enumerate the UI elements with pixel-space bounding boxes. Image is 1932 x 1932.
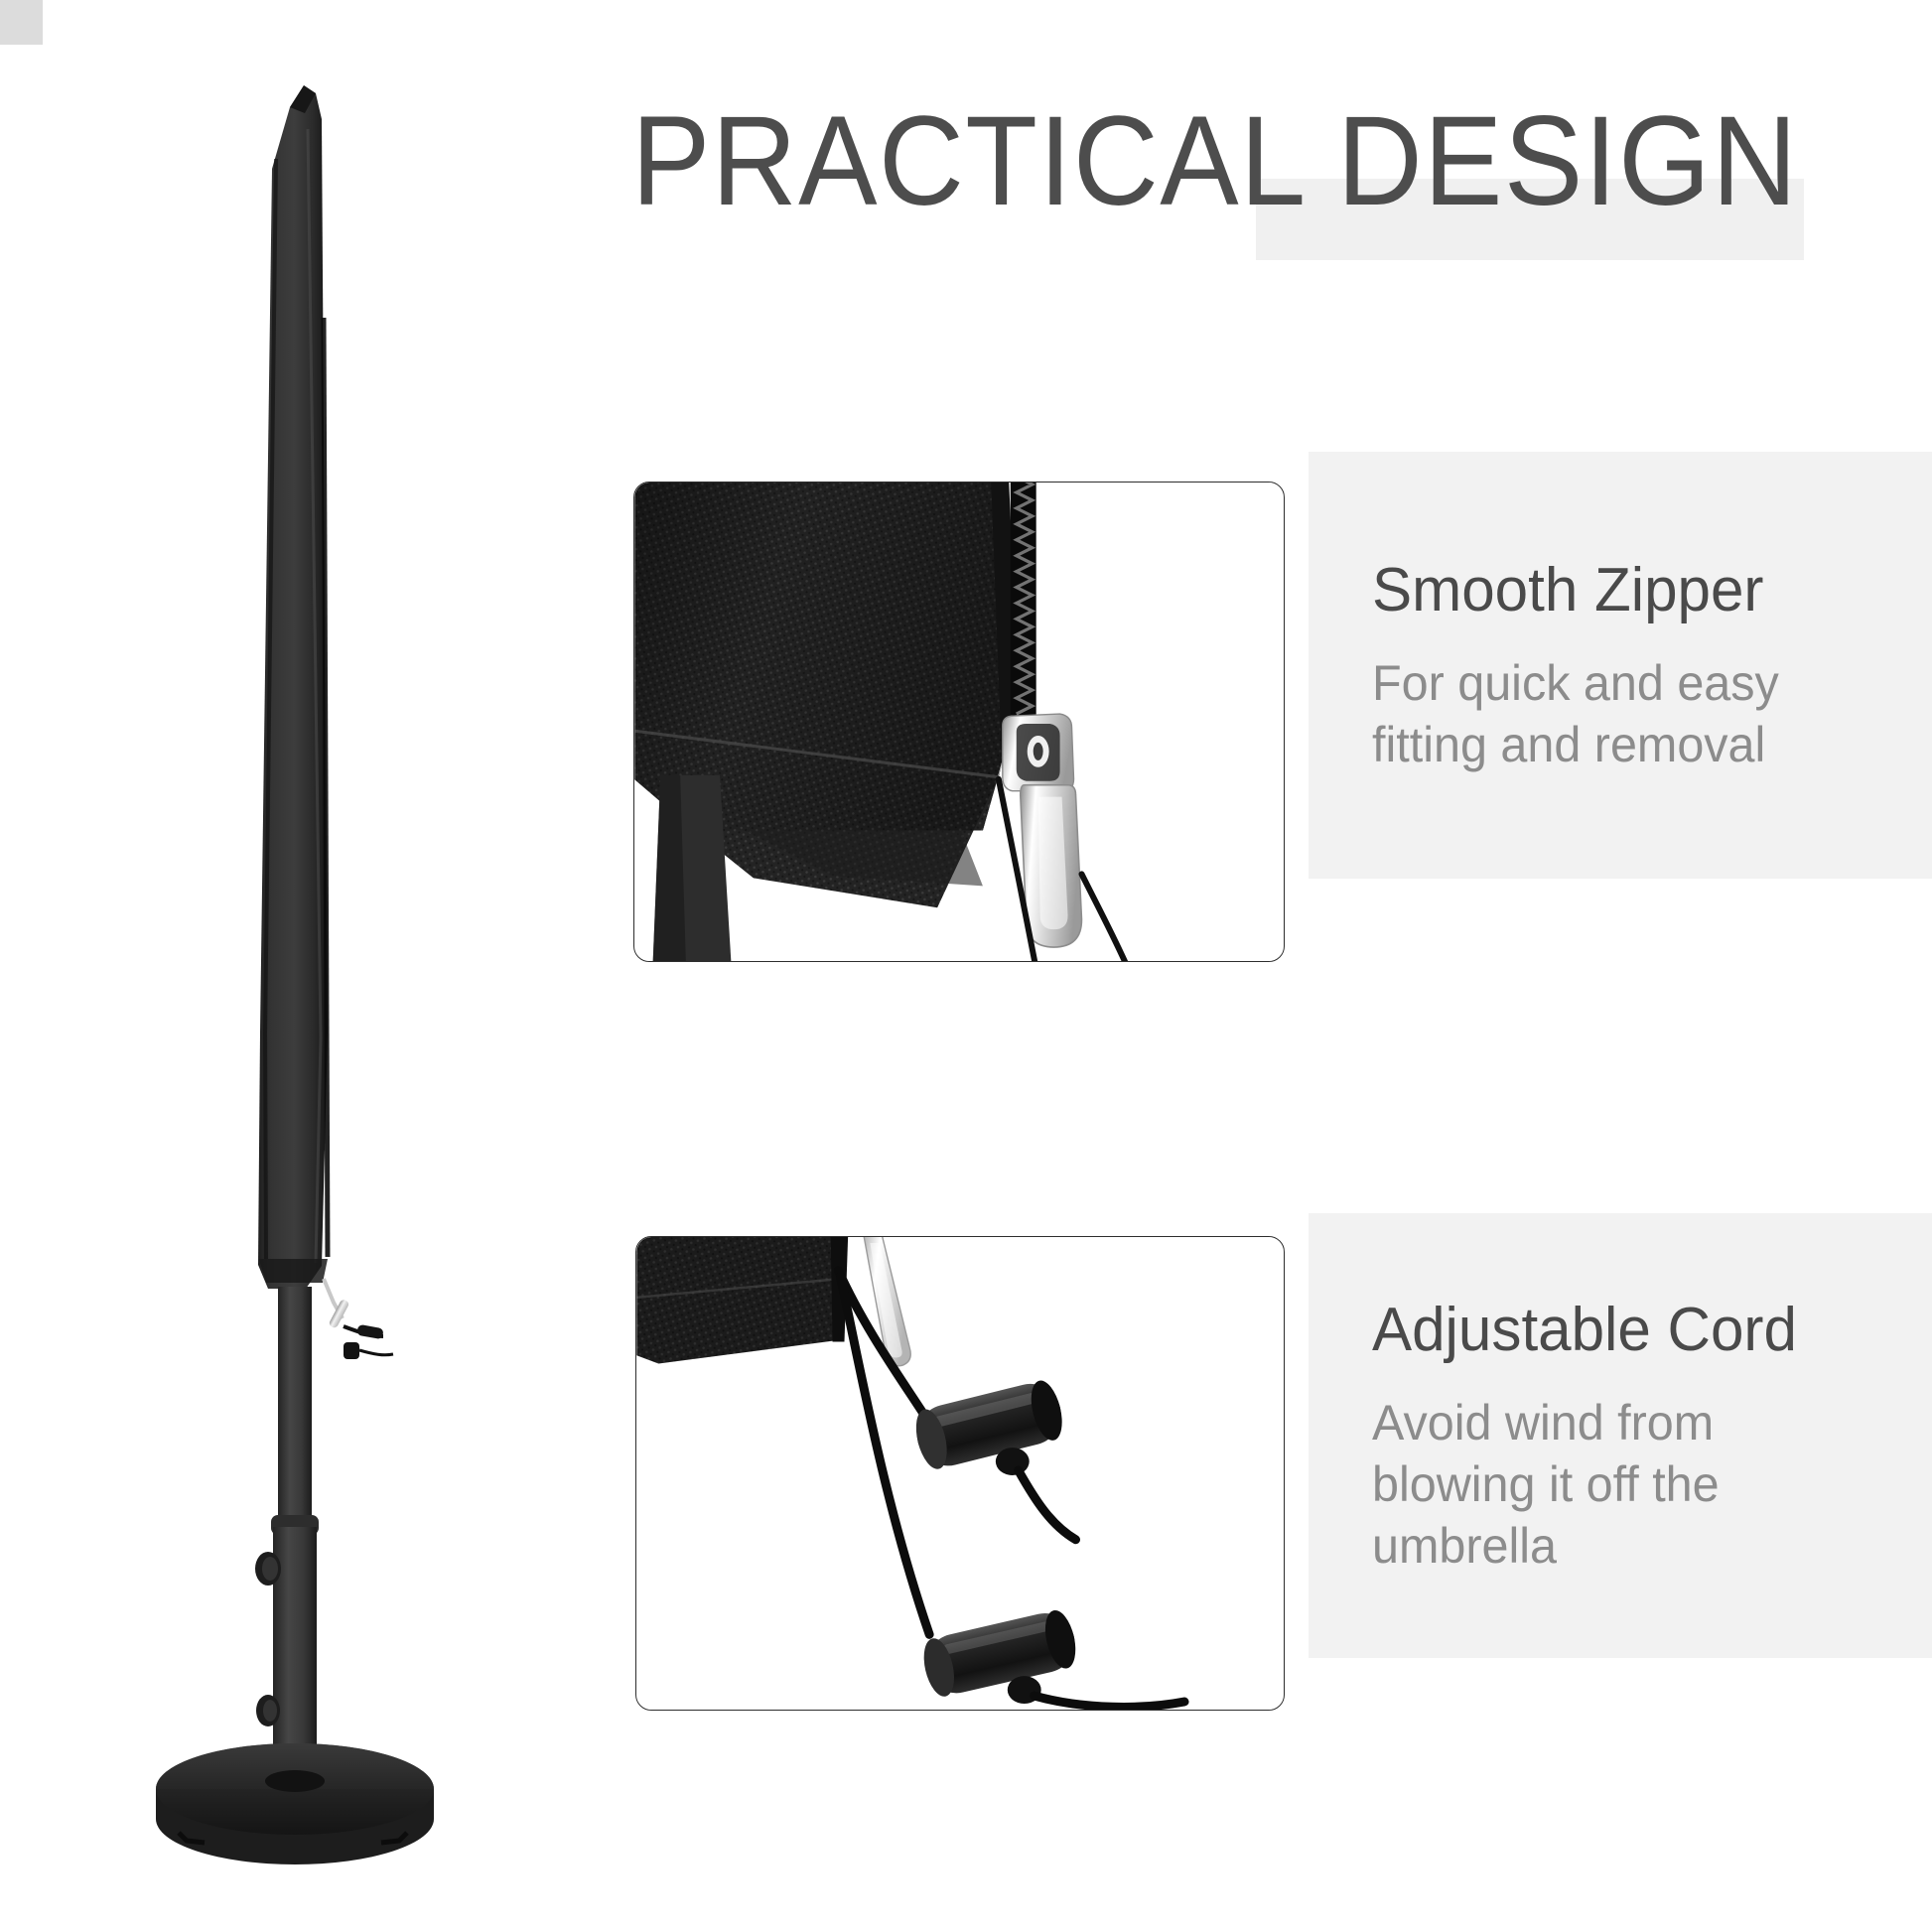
feature-title-cord: Adjustable Cord: [1372, 1295, 1876, 1366]
corner-swatch: [0, 0, 43, 45]
page-title: PRACTICAL DESIGN: [631, 87, 1863, 276]
umbrella-cover-hero-image: [109, 60, 526, 1906]
feature-body-zipper: For quick and easy fitting and removal: [1372, 652, 1876, 775]
zipper-teeth: [1011, 483, 1036, 730]
pole-adjustment-knob-lower: [256, 1695, 280, 1726]
feature-title-zipper: Smooth Zipper: [1372, 555, 1876, 626]
feature-body-line: blowing it off the: [1372, 1453, 1876, 1515]
cover-body: [258, 85, 328, 1289]
pole-upper: [278, 1287, 312, 1521]
pole-adjustment-knob-upper: [255, 1552, 281, 1586]
feature-body-line: For quick and easy: [1372, 652, 1876, 714]
cord-closeup-photo: [635, 1236, 1285, 1711]
page-title-text: PRACTICAL DESIGN: [631, 87, 1776, 236]
zipper-pull-and-cord: [324, 1279, 393, 1359]
feature-text-zipper: Smooth Zipper For quick and easy fitting…: [1309, 452, 1932, 879]
feature-body-line: umbrella: [1372, 1515, 1876, 1577]
zipper-slider: [1003, 714, 1074, 791]
feature-text-cord: Adjustable Cord Avoid wind from blowing …: [1309, 1213, 1932, 1658]
umbrella-base: [156, 1743, 434, 1864]
zipper-closeup-photo: [633, 482, 1285, 962]
feature-body-cord: Avoid wind from blowing it off the umbre…: [1372, 1392, 1876, 1577]
feature-body-line: fitting and removal: [1372, 714, 1876, 775]
feature-body-line: Avoid wind from: [1372, 1392, 1876, 1453]
